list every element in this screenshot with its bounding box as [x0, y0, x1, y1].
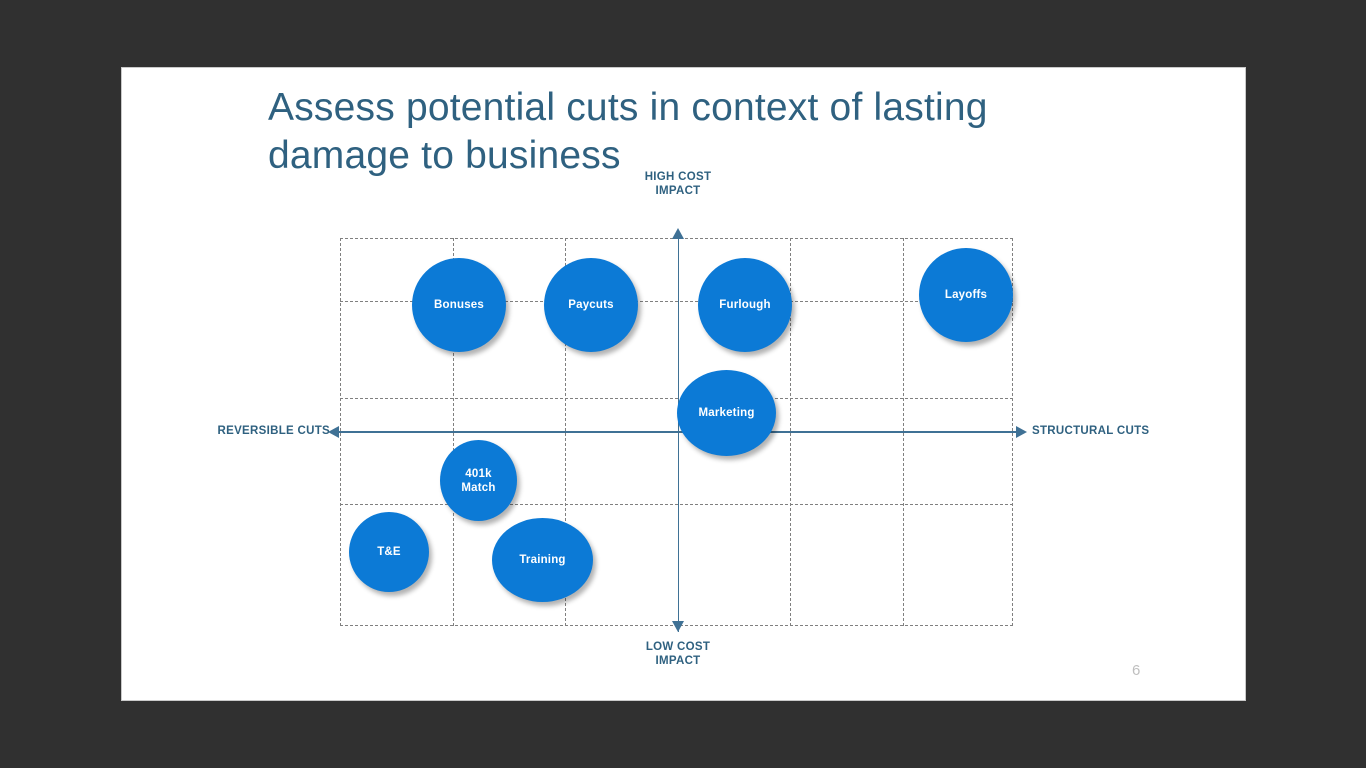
- bubble-furlough[interactable]: Furlough: [698, 258, 792, 352]
- grid-line-horizontal: [340, 504, 1013, 505]
- arrow-down-icon: [672, 621, 684, 632]
- horizontal-axis-line: [332, 431, 1024, 433]
- bubble-marketing[interactable]: Marketing: [677, 370, 776, 456]
- bubble-label: Paycuts: [568, 298, 614, 312]
- bubble-label: Layoffs: [945, 288, 987, 302]
- axis-label-low-cost-impact: LOW COST IMPACT: [608, 640, 748, 668]
- grid-line-horizontal: [340, 398, 1013, 399]
- bubble-label: Training: [519, 553, 565, 567]
- bubble-label: Furlough: [719, 298, 770, 312]
- bubble-label: T&E: [377, 545, 401, 559]
- bubble-bonuses[interactable]: Bonuses: [412, 258, 506, 352]
- page-number: 6: [1132, 662, 1140, 679]
- bubble-401k[interactable]: 401k Match: [440, 440, 517, 521]
- slide-canvas: Assess potential cuts in context of last…: [122, 68, 1245, 700]
- bubble-label: Bonuses: [434, 298, 484, 312]
- impact-matrix-chart: HIGH COST IMPACT LOW COST IMPACT REVERSI…: [340, 238, 1013, 626]
- bubble-layoffs[interactable]: Layoffs: [919, 248, 1013, 342]
- axis-label-structural-cuts: STRUCTURAL CUTS: [1032, 424, 1192, 438]
- bubble-paycuts[interactable]: Paycuts: [544, 258, 638, 352]
- page-title: Assess potential cuts in context of last…: [268, 84, 1088, 180]
- bubble-label: 401k Match: [461, 467, 495, 495]
- axis-label-reversible-cuts: REVERSIBLE CUTS: [212, 424, 330, 438]
- axis-label-high-cost-impact: HIGH COST IMPACT: [608, 170, 748, 198]
- bubble-te[interactable]: T&E: [349, 512, 429, 592]
- arrow-up-icon: [672, 228, 684, 239]
- bubble-training[interactable]: Training: [492, 518, 593, 602]
- arrow-right-icon: [1016, 426, 1027, 438]
- bubble-label: Marketing: [698, 406, 754, 420]
